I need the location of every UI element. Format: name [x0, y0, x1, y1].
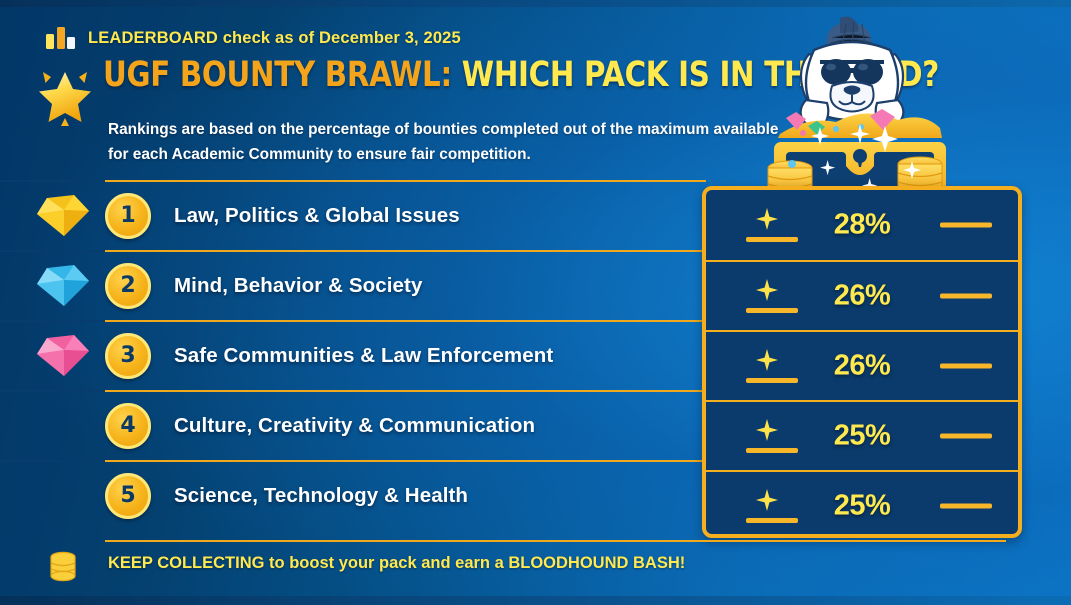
rank-number: 2 — [120, 275, 135, 297]
sparkle-underline — [746, 448, 798, 453]
sparkle-meter — [746, 279, 798, 313]
leaderboard-list: 1 Law, Politics & Global Issues 2 Mind, … — [0, 180, 706, 530]
sparkle-underline — [746, 378, 798, 383]
percentage-row: 26% — [706, 330, 1018, 400]
percentage-row: 26% — [706, 260, 1018, 330]
rank-number: 5 — [120, 485, 135, 507]
footer-divider — [105, 540, 1006, 542]
sparkle-icon — [756, 419, 778, 441]
rank-number: 4 — [120, 415, 135, 437]
coin-stack-icon — [46, 550, 80, 584]
trend-dash-icon — [940, 294, 992, 299]
sparkle-underline — [746, 237, 798, 242]
percentage-row: 25% — [706, 400, 1018, 470]
rank-number: 1 — [120, 205, 135, 227]
sparkle-icon — [756, 279, 778, 301]
sparkle-underline — [746, 308, 798, 313]
trend-dash-icon — [940, 434, 992, 439]
kicker-label: LEADERBOARD check as of December 3, 2025 — [88, 29, 461, 48]
table-row[interactable]: 4 Culture, Creativity & Communication — [0, 390, 706, 460]
community-label: Mind, Behavior & Society — [174, 274, 422, 298]
sparkle-meter — [746, 349, 798, 383]
gold-gem-icon — [34, 192, 92, 240]
glowing-star-icon — [32, 60, 98, 126]
trend-dash-icon — [940, 223, 992, 228]
sparkle-meter — [746, 489, 798, 523]
bar-chart-icon — [46, 27, 76, 49]
blue-gem-icon — [34, 262, 92, 310]
top-edge-band — [0, 0, 1071, 7]
trend-dash-icon — [940, 504, 992, 509]
community-label: Safe Communities & Law Enforcement — [174, 344, 553, 368]
pink-gem-icon — [34, 332, 92, 380]
rank-badge: 3 — [105, 333, 151, 379]
community-label: Culture, Creativity & Communication — [174, 414, 535, 438]
table-row[interactable]: 1 Law, Politics & Global Issues — [0, 180, 706, 250]
infographic-canvas: LEADERBOARD check as of December 3, 2025… — [0, 0, 1071, 605]
percentage-row: 25% — [706, 470, 1018, 538]
title-part-1: UGF BOUNTY BRAWL: — [103, 55, 452, 95]
percentage-panel: 28% 26% 26% — [702, 186, 1022, 538]
percent-value: 26% — [834, 350, 891, 383]
community-label: Law, Politics & Global Issues — [174, 204, 460, 228]
trend-dash-icon — [940, 364, 992, 369]
rank-number: 3 — [120, 345, 135, 367]
table-row[interactable]: 3 Safe Communities & Law Enforcement — [0, 320, 706, 390]
percent-value: 25% — [834, 490, 891, 523]
sparkle-icon — [756, 208, 778, 230]
table-row[interactable]: 5 Science, Technology & Health — [0, 460, 706, 530]
sparkle-underline — [746, 518, 798, 523]
rank-badge: 5 — [105, 473, 151, 519]
community-label: Science, Technology & Health — [174, 484, 468, 508]
rank-badge: 2 — [105, 263, 151, 309]
percent-value: 26% — [834, 280, 891, 313]
bottom-edge-band — [0, 596, 1071, 605]
rank-badge: 1 — [105, 193, 151, 239]
subtitle-text: Rankings are based on the percentage of … — [108, 118, 780, 168]
sparkle-meter — [746, 419, 798, 453]
sparkle-icon — [756, 489, 778, 511]
percent-value: 25% — [834, 420, 891, 453]
table-row[interactable]: 2 Mind, Behavior & Society — [0, 250, 706, 320]
footer-label: KEEP COLLECTING to boost your pack and e… — [108, 554, 685, 573]
sparkle-meter — [746, 208, 798, 242]
percentage-row: 28% — [706, 190, 1018, 260]
sparkle-icon — [756, 349, 778, 371]
footer-banner: KEEP COLLECTING to boost your pack and e… — [0, 540, 1071, 586]
rank-badge: 4 — [105, 403, 151, 449]
leaderboard-kicker: LEADERBOARD check as of December 3, 2025 — [46, 27, 461, 49]
percent-value: 28% — [834, 209, 891, 242]
